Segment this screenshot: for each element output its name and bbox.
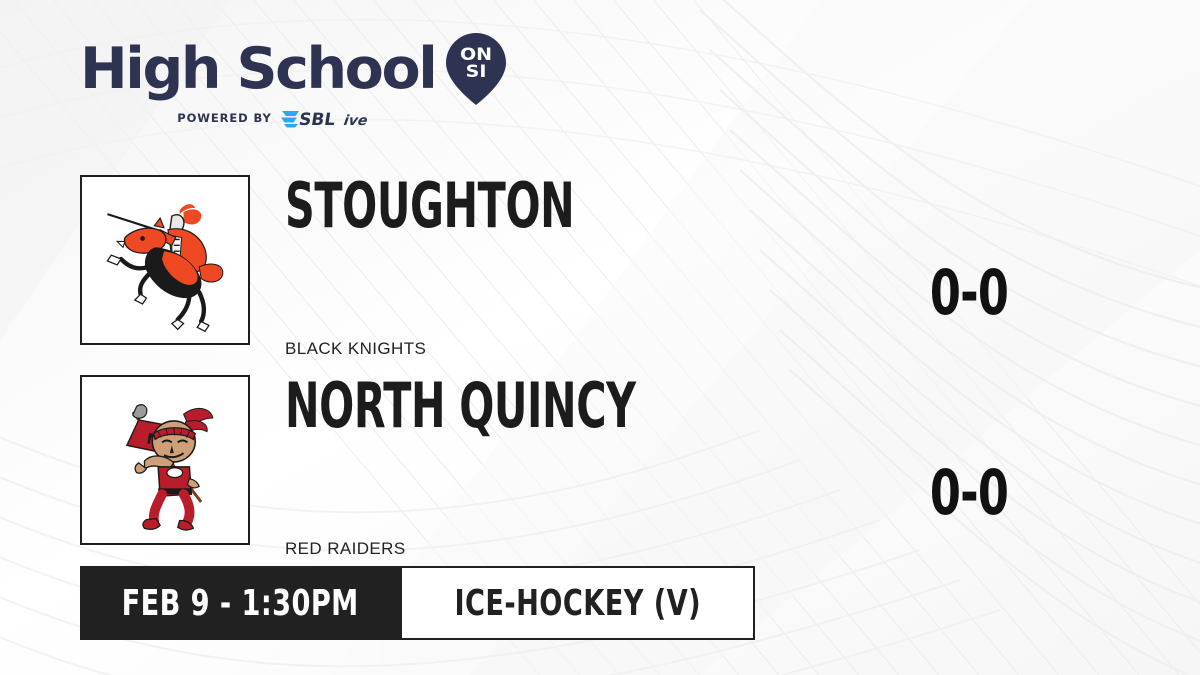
game-sport-label: ICE-HOCKEY (V)	[454, 583, 700, 624]
game-datetime-block: FEB 9 - 1:30PM	[80, 566, 400, 640]
onsi-pin-icon: ON SI	[445, 32, 507, 106]
sblive-logo: SBL ive	[280, 108, 378, 128]
team-mascot-secondary: RED RAIDERS	[285, 539, 406, 559]
team-logo-raider-mascot: NQ	[80, 375, 250, 545]
team-mascot-primary: BLACK KNIGHTS	[285, 339, 426, 359]
powered-by-label: POWERED BY	[177, 111, 271, 125]
svg-text:SBL: SBL	[297, 110, 336, 128]
game-sport-block: ICE-HOCKEY (V)	[400, 566, 755, 640]
team-logo-knight-on-horseback	[80, 175, 250, 345]
team-name-secondary: NORTH QUINCY	[285, 375, 636, 437]
brand-header: High School ON SI POWERED BY	[80, 33, 510, 128]
game-info-bar: FEB 9 - 1:30PM ICE-HOCKEY (V)	[80, 566, 755, 640]
game-datetime-label: FEB 9 - 1:30PM	[121, 583, 358, 624]
team-record-secondary: 0-0	[905, 462, 1033, 524]
powered-by-row: POWERED BY SBL ive	[80, 108, 475, 128]
brand-logo-row: High School ON SI	[80, 33, 510, 105]
brand-wordmark: High School	[80, 41, 435, 98]
team-name-primary: STOUGHTON	[285, 175, 574, 237]
svg-text:ive: ive	[342, 113, 368, 128]
team-record-primary: 0-0	[905, 262, 1033, 324]
svg-text:SI: SI	[466, 62, 487, 82]
